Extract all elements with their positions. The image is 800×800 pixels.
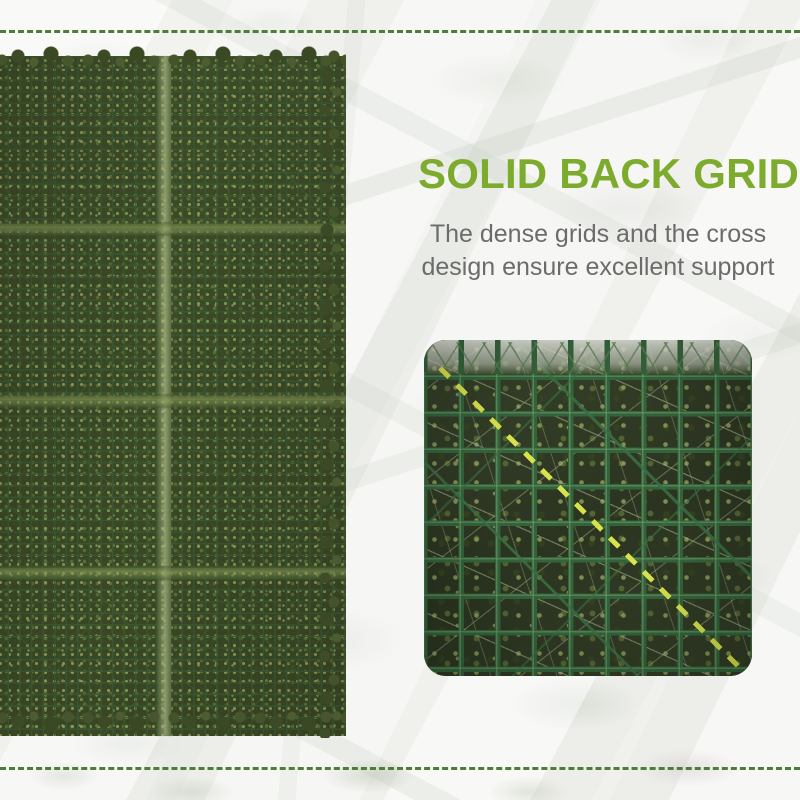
- hedge-horizontal-seam-1: [0, 222, 346, 236]
- hedge-bottom-foliage-fringe: [0, 702, 346, 736]
- marketing-image-canvas: SOLID BACK GRID The dense grids and the …: [0, 0, 800, 800]
- hedge-top-foliage-fringe: [0, 42, 346, 76]
- hedge-right-foliage-fringe: [318, 48, 346, 738]
- hedge-panel-product-photo: [0, 38, 346, 754]
- hedge-panel-body: [0, 56, 346, 736]
- page-title: SOLID BACK GRID: [418, 152, 796, 196]
- subtitle-text: The dense grids and the cross design ens…: [396, 218, 800, 284]
- bottom-dashed-divider: [0, 767, 800, 770]
- top-dashed-divider: [0, 30, 800, 33]
- diagonal-highlight-icon: [424, 340, 752, 676]
- back-grid-closeup-inset: [424, 340, 752, 676]
- hedge-horizontal-seam-3: [0, 566, 346, 580]
- hedge-horizontal-seam-2: [0, 394, 346, 408]
